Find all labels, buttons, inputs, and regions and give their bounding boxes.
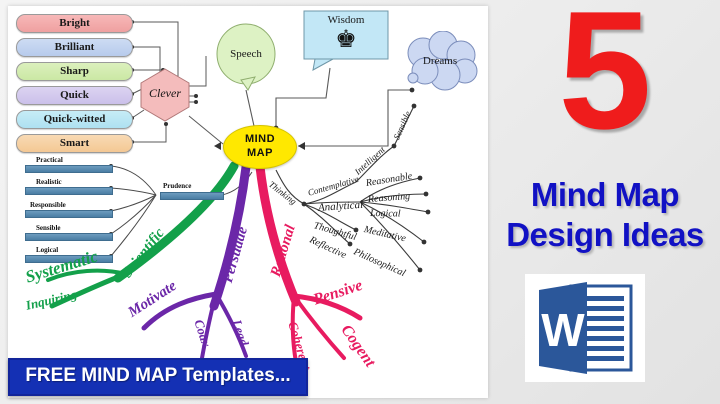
pill-label: Smart xyxy=(60,137,89,149)
center-label-line1: MIND xyxy=(224,133,296,145)
promo-panel: 5 Mind Map Design Ideas W xyxy=(490,0,720,404)
node-wisdom-label: Wisdom xyxy=(303,14,389,26)
node-dreams-label: Dreams xyxy=(401,55,479,67)
bar-practical[interactable] xyxy=(25,165,113,173)
pill-label: Sharp xyxy=(60,65,89,77)
crown-icon: ♚ xyxy=(303,28,389,52)
bar-label-practical: Practical xyxy=(36,156,63,164)
pill-label: Brilliant xyxy=(55,41,95,53)
pill-label: Bright xyxy=(59,17,90,29)
svg-text:W: W xyxy=(541,304,585,356)
bar-label-logical: Logical xyxy=(36,246,58,254)
pill-bright[interactable]: Bright xyxy=(16,14,133,33)
promo-thumbnail: Bright Brilliant Sharp Quick Quick-witte… xyxy=(0,0,720,404)
node-wisdom-box[interactable]: Wisdom ♚ xyxy=(303,10,389,68)
pill-sharp[interactable]: Sharp xyxy=(16,62,133,81)
node-clever[interactable]: Clever xyxy=(139,67,191,123)
node-dreams-cloud[interactable]: Dreams xyxy=(401,31,479,93)
center-label-line2: MAP xyxy=(224,147,296,159)
pill-quick[interactable]: Quick xyxy=(16,86,133,105)
promo-title-line1: Mind Map xyxy=(490,176,720,214)
pill-quick-witted[interactable]: Quick-witted xyxy=(16,110,133,129)
bar-label-prudence: Prudence xyxy=(163,182,191,190)
node-speech-label: Speech xyxy=(215,48,277,60)
bar-prudence[interactable] xyxy=(160,192,224,200)
node-speech-bubble[interactable]: Speech xyxy=(215,22,277,90)
pill-smart[interactable]: Smart xyxy=(16,134,133,153)
bar-realistic[interactable] xyxy=(25,187,113,195)
bar-label-sensible: Sensible xyxy=(36,224,61,232)
word-icon-shape: W xyxy=(525,274,645,382)
big-number-5: 5 xyxy=(490,0,720,154)
bar-responsible[interactable] xyxy=(25,210,113,218)
pill-label: Quick xyxy=(60,89,89,101)
pill-brilliant[interactable]: Brilliant xyxy=(16,38,133,57)
bar-sensible[interactable] xyxy=(25,233,113,241)
promo-title-line2: Design Ideas xyxy=(490,216,720,254)
free-templates-banner[interactable]: FREE MIND MAP Templates... xyxy=(8,358,308,396)
node-clever-label: Clever xyxy=(139,86,191,101)
bar-label-responsible: Responsible xyxy=(30,201,66,209)
bar-label-realistic: Realistic xyxy=(36,178,62,186)
banner-label: FREE MIND MAP Templates... xyxy=(10,360,306,392)
node-mind-map-center[interactable]: MIND MAP xyxy=(223,125,297,169)
branch-word-logical: Logical xyxy=(370,208,401,220)
pill-label: Quick-witted xyxy=(44,113,106,125)
microsoft-word-icon[interactable]: W xyxy=(525,274,645,382)
mindmap-canvas: Bright Brilliant Sharp Quick Quick-witte… xyxy=(8,6,488,398)
